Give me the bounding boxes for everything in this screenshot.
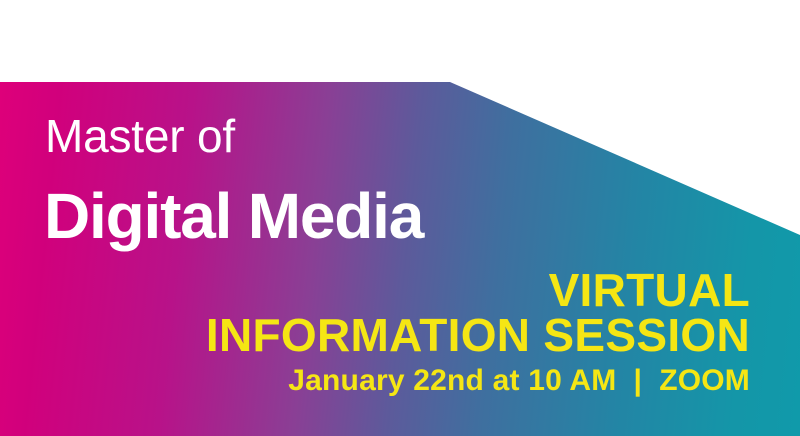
event-details-text: January 22nd at 10 AM | ZOOM (288, 366, 750, 396)
banner-text-layer: Master of Digital Media VIRTUAL INFORMAT… (0, 0, 800, 436)
program-name-text: Digital Media (44, 184, 423, 248)
promotional-banner: Master of Digital Media VIRTUAL INFORMAT… (0, 0, 800, 436)
event-type-text: VIRTUAL (549, 267, 750, 313)
degree-eyebrow-text: Master of (45, 113, 235, 159)
event-title-text: INFORMATION SESSION (206, 312, 750, 358)
